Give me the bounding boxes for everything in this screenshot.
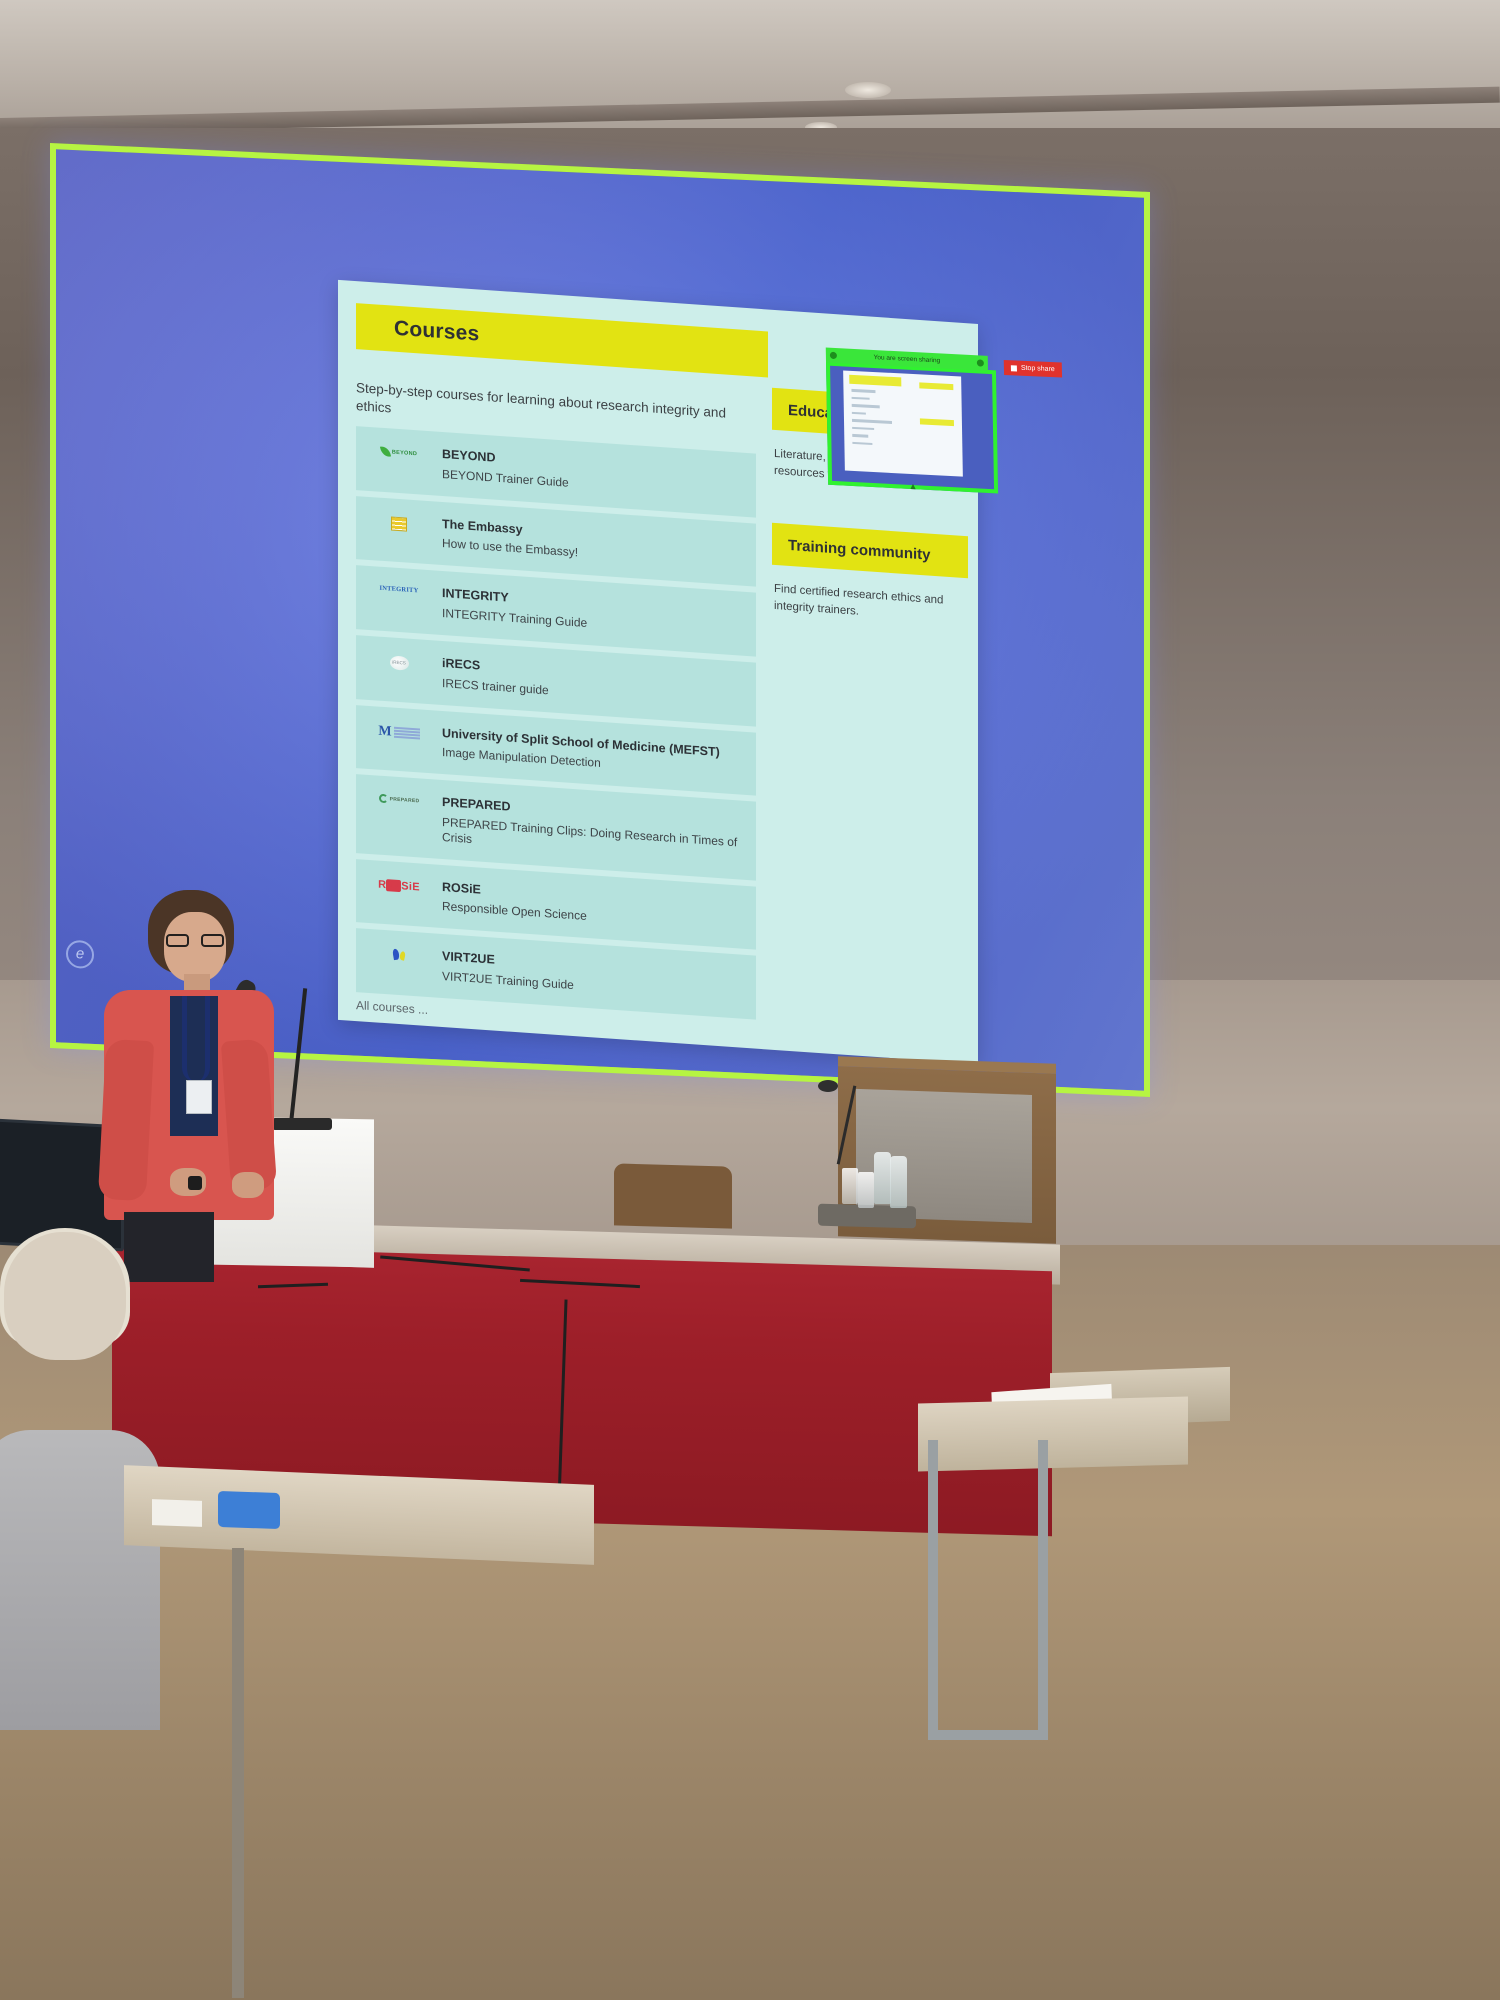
presentation-clicker (188, 1176, 202, 1190)
presenter-left-arm (98, 1039, 154, 1201)
shared-screen-thumbnail (843, 370, 963, 476)
lectern-microphone (818, 1080, 838, 1092)
audience-member-head (4, 1232, 126, 1360)
presenter-glasses (166, 934, 224, 947)
thumbnail-line (852, 419, 892, 424)
presenter-badge (186, 1080, 212, 1114)
projector-watermark: e (66, 940, 94, 969)
embassy-logo (356, 510, 442, 534)
thumbnail-line (852, 434, 868, 437)
courses-heading: Courses (394, 317, 479, 347)
thumbnail-line (852, 441, 872, 445)
smartphone (218, 1491, 280, 1529)
prepared-logo: PREPARED (356, 788, 442, 807)
training-community-heading-bar: Training community (772, 523, 968, 579)
presenter (96, 890, 296, 1270)
chevron-up-icon[interactable]: ▲ (909, 481, 918, 491)
irecs-logo: iRECS (356, 649, 442, 673)
stop-square-icon (1011, 365, 1017, 371)
course-list[interactable]: BEYOND BEYOND BEYOND Trainer Guide (356, 426, 756, 1020)
thumbnail-line (851, 389, 875, 393)
courses-heading-bar: Courses (356, 303, 768, 377)
thumbnail-line (852, 411, 866, 414)
presenter-lanyard (182, 996, 210, 1082)
thumbnail-header-bar (849, 375, 901, 387)
rosie-logo: ROSiE (356, 873, 442, 895)
thumbnail-line (852, 396, 870, 399)
training-community-body: Find certified research ethics and integ… (774, 581, 944, 626)
ceiling-light (845, 82, 891, 98)
virt2ue-logo (356, 943, 442, 964)
presenter-face (164, 912, 226, 982)
water-bottle (890, 1156, 907, 1208)
water-bottle (874, 1152, 891, 1204)
screen-sharing-label: You are screen sharing (840, 352, 974, 366)
courses-column: Courses Step-by-step courses for learnin… (338, 280, 768, 1050)
shield-icon (977, 359, 984, 366)
lecture-hall-scene: e Courses Step-by-step courses for learn… (0, 0, 1500, 2000)
stop-share-label: Stop share (1021, 365, 1055, 373)
thumbnail-button (919, 382, 953, 390)
right-chair (928, 1440, 1048, 1740)
chair (614, 1163, 732, 1228)
thumbnail-line (852, 426, 874, 430)
presenter-legs (124, 1212, 214, 1282)
thumbnail-button (920, 418, 954, 426)
presenter-right-hand (232, 1172, 264, 1198)
mefst-logo: M (356, 719, 442, 743)
screen-share-overlay[interactable]: You are screen sharing Stop share (826, 362, 998, 494)
training-community-heading: Training community (788, 537, 931, 564)
water-glass (842, 1168, 858, 1204)
water-glass (858, 1172, 874, 1208)
paper-sheet (152, 1499, 202, 1527)
thumbnail-line (852, 404, 880, 408)
stop-share-button[interactable]: Stop share (1004, 360, 1062, 377)
integrity-logo: INTEGRITY (356, 579, 442, 596)
beyond-logo: BEYOND (356, 440, 442, 461)
foreground-desk-leg (232, 1548, 244, 1998)
shield-icon (830, 352, 837, 359)
